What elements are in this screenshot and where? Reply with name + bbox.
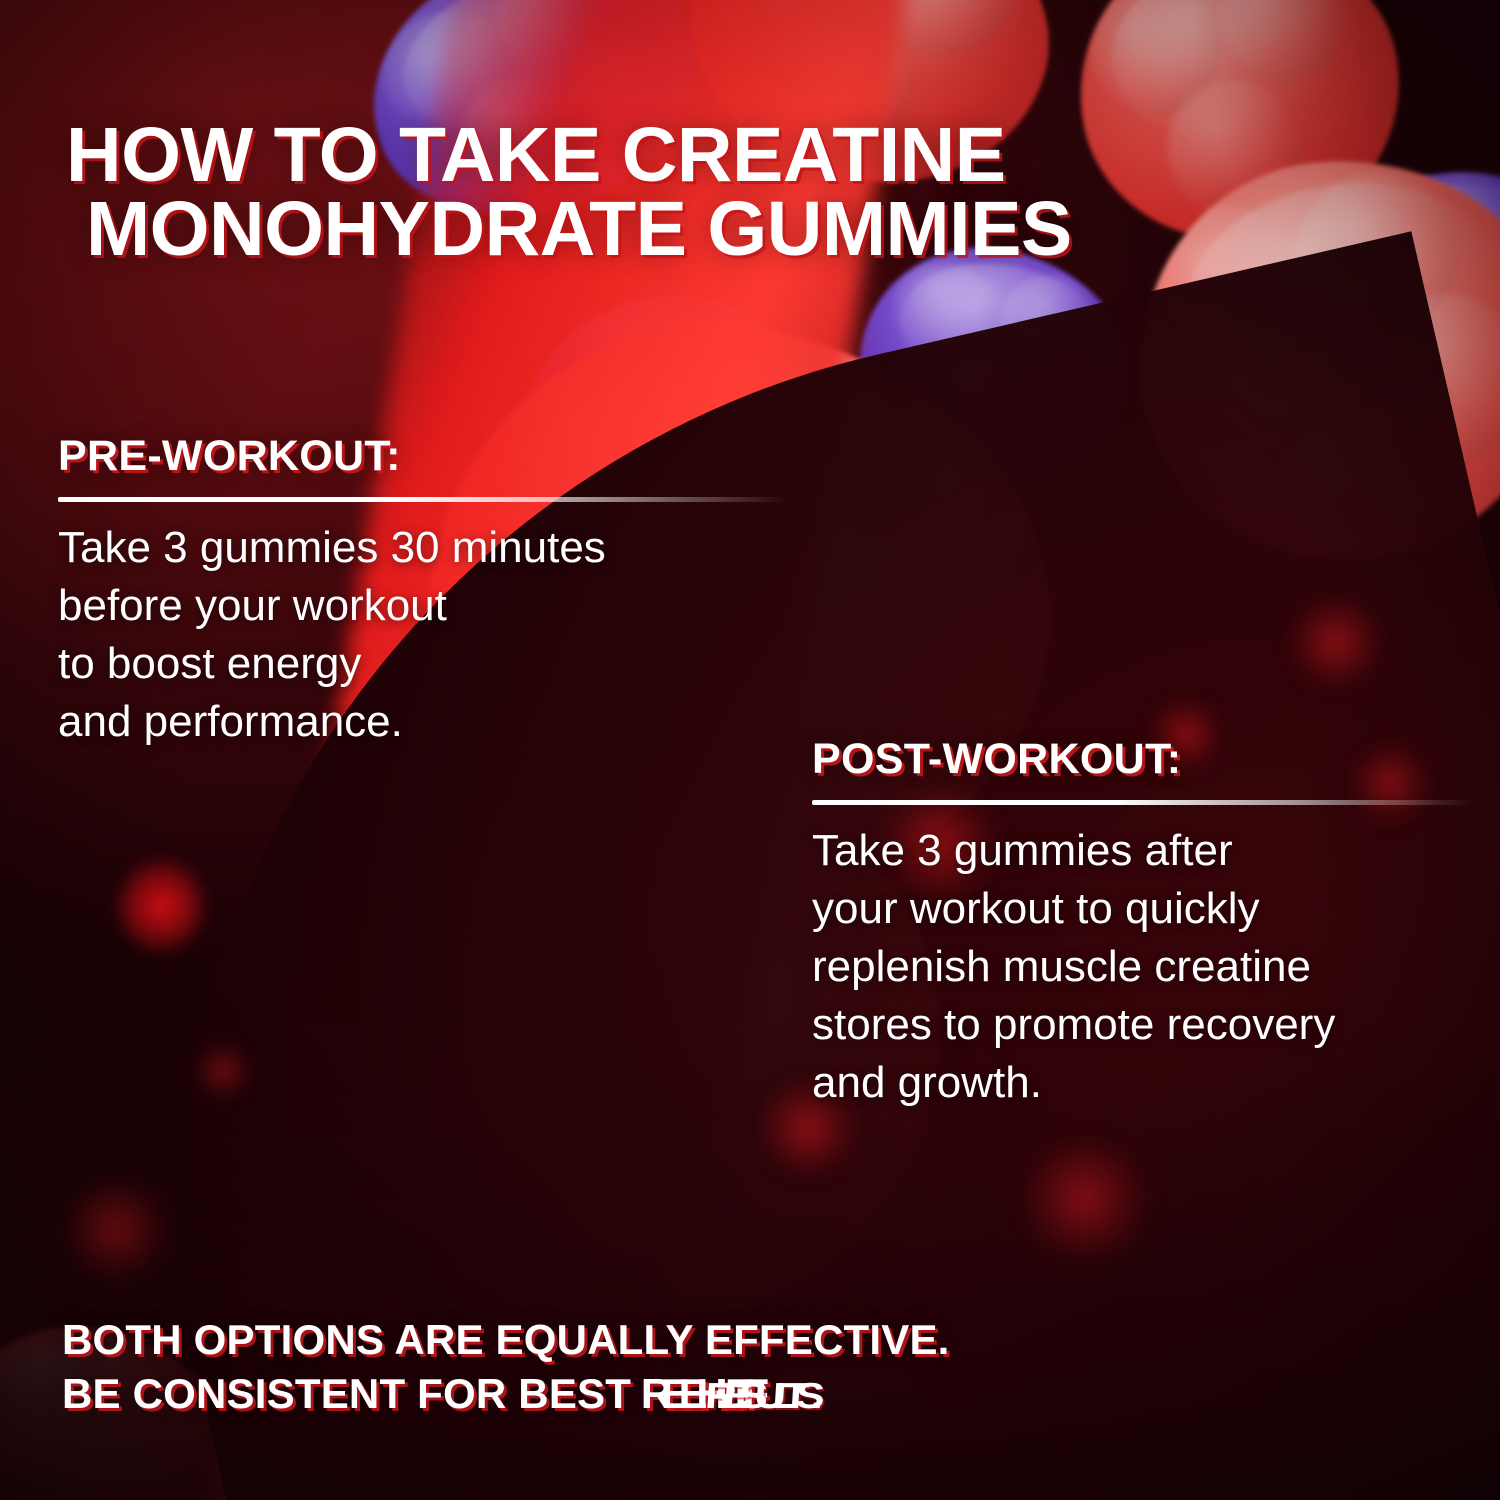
footer-line-2: BE CONSISTENT FOR BEST REEH'LTFRESULTS. xyxy=(62,1367,1422,1422)
footer-note: BOTH OPTIONS ARE EQUALLY EFFECTIVE. BE C… xyxy=(62,1313,1422,1422)
post-workout-line-5: and growth. xyxy=(812,1054,1472,1112)
post-workout-line-1: Take 3 gummies after xyxy=(812,822,1472,880)
footer-glitch-artifact: REEH'LTFRESULTS. xyxy=(641,1367,758,1422)
page-title: HOW TO TAKE CREATINE MONOHYDRATE GUMMIES xyxy=(66,118,1366,267)
post-workout-body: Take 3 gummies after your workout to qui… xyxy=(812,822,1472,1112)
pre-workout-line-2: before your workout xyxy=(58,577,788,635)
footer-line-1: BOTH OPTIONS ARE EQUALLY EFFECTIVE. xyxy=(62,1313,1422,1368)
pre-workout-block: PRE-WORKOUT: Take 3 gummies 30 minutes b… xyxy=(58,432,788,751)
pre-workout-body: Take 3 gummies 30 minutes before your wo… xyxy=(58,519,788,751)
pre-workout-underline xyxy=(58,497,788,502)
pre-workout-heading: PRE-WORKOUT: xyxy=(58,432,788,481)
pre-workout-line-4: and performance. xyxy=(58,693,788,751)
pre-workout-line-3: to boost energy xyxy=(58,635,788,693)
post-workout-heading: POST-WORKOUT: xyxy=(812,735,1472,784)
post-workout-line-2: your workout to quickly xyxy=(812,880,1472,938)
page-title-line-2: MONOHYDRATE GUMMIES xyxy=(66,192,1366,267)
post-workout-line-3: replenish muscle creatine xyxy=(812,938,1472,996)
promo-poster: HOW TO TAKE CREATINE MONOHYDRATE GUMMIES… xyxy=(0,0,1500,1500)
post-workout-underline xyxy=(812,800,1472,805)
page-title-line-1: HOW TO TAKE CREATINE xyxy=(66,112,1006,198)
pre-workout-line-1: Take 3 gummies 30 minutes xyxy=(58,519,788,577)
content-layer: HOW TO TAKE CREATINE MONOHYDRATE GUMMIES… xyxy=(0,0,1500,1500)
post-workout-line-4: stores to promote recovery xyxy=(812,996,1472,1054)
footer-line-2-prefix: BE CONSISTENT FOR BEST xyxy=(62,1370,643,1417)
footer-glitch-layer-b: RESULTS. xyxy=(704,1373,812,1420)
post-workout-block: POST-WORKOUT: Take 3 gummies after your … xyxy=(812,735,1472,1112)
